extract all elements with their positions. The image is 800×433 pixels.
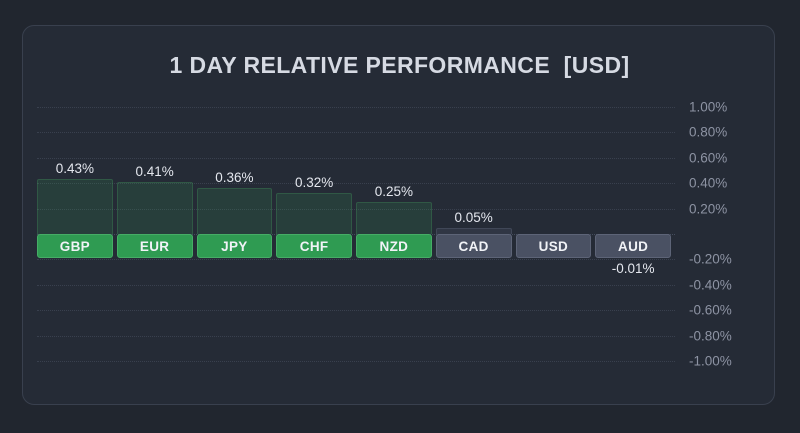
bar-group-gbp[interactable]: GBP0.43% xyxy=(37,94,113,374)
y-axis-tick-label: 1.00% xyxy=(689,99,781,114)
y-axis-tick-label: -0.80% xyxy=(689,328,781,343)
bar-group-aud[interactable]: AUD-0.01% xyxy=(595,94,671,374)
bar-label-usd[interactable]: USD xyxy=(516,234,592,258)
bar-group-jpy[interactable]: JPY0.36% xyxy=(197,94,273,374)
y-axis-tick-label: 0.80% xyxy=(689,125,781,140)
screenshot-root: 1 DAY RELATIVE PERFORMANCE [USD] 1.00%0.… xyxy=(0,0,800,433)
bar-value-aud: -0.01% xyxy=(595,261,671,276)
y-axis-tick-label: 0.20% xyxy=(689,201,781,216)
y-axis-tick-label: -1.00% xyxy=(689,354,781,369)
bar-label-nzd[interactable]: NZD xyxy=(356,234,432,258)
y-axis-tick-label: -0.60% xyxy=(689,303,781,318)
bar-body xyxy=(197,188,273,234)
bar-group-chf[interactable]: CHF0.32% xyxy=(276,94,352,374)
bar-label-chf[interactable]: CHF xyxy=(276,234,352,258)
page-title: 1 DAY RELATIVE PERFORMANCE [USD] xyxy=(23,52,776,79)
bar-group-nzd[interactable]: NZD0.25% xyxy=(356,94,432,374)
bar-label-aud[interactable]: AUD xyxy=(595,234,671,258)
y-axis-tick-label: 0.40% xyxy=(689,176,781,191)
bar-label-gbp[interactable]: GBP xyxy=(37,234,113,258)
bar-value-jpy: 0.36% xyxy=(197,170,273,185)
bar-label-eur[interactable]: EUR xyxy=(117,234,193,258)
bar-label-cad[interactable]: CAD xyxy=(436,234,512,258)
y-axis-tick-label: 0.60% xyxy=(689,150,781,165)
bar-label-jpy[interactable]: JPY xyxy=(197,234,273,258)
bar-series: GBP0.43%EUR0.41%JPY0.36%CHF0.32%NZD0.25%… xyxy=(37,94,675,374)
bar-body xyxy=(356,202,432,234)
bar-body xyxy=(37,179,113,234)
y-axis-tick-label: -0.40% xyxy=(689,277,781,292)
bar-group-eur[interactable]: EUR0.41% xyxy=(117,94,193,374)
bar-value-gbp: 0.43% xyxy=(37,161,113,176)
bar-value-nzd: 0.25% xyxy=(356,184,432,199)
bar-group-cad[interactable]: CAD0.05% xyxy=(436,94,512,374)
y-axis-tick-label: -0.20% xyxy=(689,252,781,267)
bar-value-cad: 0.05% xyxy=(436,210,512,225)
chart-plot-area: 1.00%0.80%0.60%0.40%0.20%-0.20%-0.40%-0.… xyxy=(37,94,675,374)
bar-group-usd[interactable]: USD xyxy=(516,94,592,374)
performance-card: 1 DAY RELATIVE PERFORMANCE [USD] 1.00%0.… xyxy=(22,25,775,405)
bar-body xyxy=(117,182,193,234)
bar-value-eur: 0.41% xyxy=(117,164,193,179)
bar-body xyxy=(276,193,352,234)
bar-value-chf: 0.32% xyxy=(276,175,352,190)
